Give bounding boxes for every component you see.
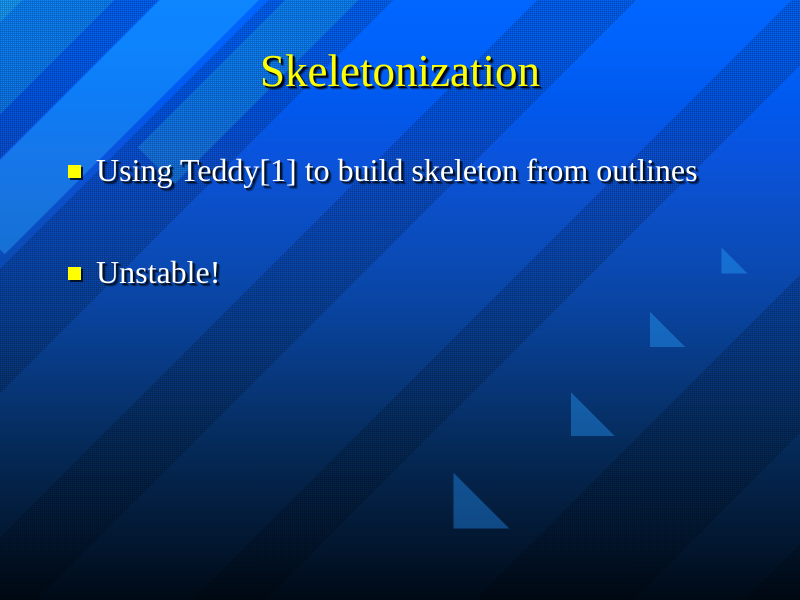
bullet-item: Unstable! <box>62 252 752 292</box>
bullet-item: Using Teddy[1] to build skeleton from ou… <box>62 150 752 190</box>
stripe-tip-3 <box>615 312 686 383</box>
stripe-tip-2 <box>527 392 615 480</box>
stripe-tip-1 <box>398 473 510 585</box>
slide-body: Using Teddy[1] to build skeleton from ou… <box>62 150 752 292</box>
bullet-text: Using Teddy[1] to build skeleton from ou… <box>96 150 752 190</box>
slide-canvas: Skeletonization Using Teddy[1] to build … <box>0 0 800 600</box>
bullet-text: Unstable! <box>96 252 752 292</box>
square-bullet-icon <box>68 267 81 280</box>
square-bullet-icon <box>68 165 81 178</box>
slide-title: Skeletonization <box>0 45 800 97</box>
